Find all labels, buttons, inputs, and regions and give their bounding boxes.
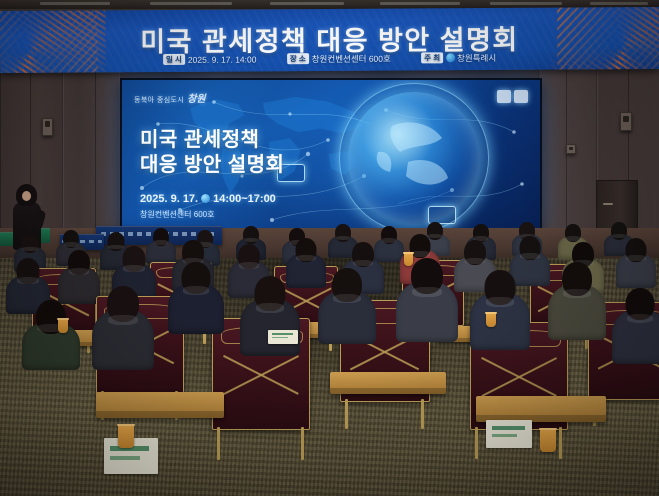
audience-member — [318, 268, 376, 344]
person-collar — [333, 294, 361, 303]
paper-cup — [118, 424, 134, 448]
side-table — [96, 392, 224, 418]
chair-leg — [559, 427, 562, 459]
audience-member — [92, 286, 154, 370]
audience-member — [470, 270, 530, 350]
audience-member — [616, 238, 656, 288]
person-collar — [353, 260, 373, 266]
person-collar — [486, 297, 515, 307]
chair-leg — [475, 427, 478, 459]
paper-cup — [58, 318, 68, 333]
person-collar — [17, 277, 38, 284]
audience-member — [396, 258, 458, 342]
person-collar — [627, 314, 654, 323]
person-collar — [296, 255, 315, 261]
side-table — [330, 372, 446, 394]
person-collar — [566, 236, 580, 240]
person-collar — [154, 240, 168, 244]
person-collar — [465, 258, 485, 264]
person-collar — [183, 286, 210, 295]
audience-member — [548, 262, 606, 340]
person-collar — [244, 238, 258, 242]
person-collar — [64, 242, 78, 246]
handout-document — [486, 420, 532, 448]
person-collar — [256, 303, 285, 313]
person-collar — [612, 234, 626, 238]
person-collar — [69, 268, 89, 274]
screenshot-root: 미국 관세정책 대응 방안 설명회 일 시2025. 9. 17. 14:00 … — [0, 0, 659, 496]
person-collar — [108, 315, 138, 325]
chair-leg — [301, 427, 304, 460]
person-collar — [626, 255, 645, 261]
person-collar — [563, 289, 591, 298]
chair-leg — [421, 399, 424, 429]
side-table — [476, 396, 606, 422]
chair-leg — [345, 399, 348, 429]
person-collar — [123, 265, 144, 272]
audience-member — [22, 300, 80, 370]
audience-member — [240, 276, 300, 356]
person-collar — [520, 253, 539, 259]
person-collar — [412, 287, 442, 297]
chair-leg — [217, 427, 220, 460]
paper-cup — [486, 312, 496, 327]
audience-member — [612, 288, 659, 364]
audience-area — [0, 0, 659, 496]
audience-member — [168, 262, 224, 334]
paper-cup — [404, 252, 413, 266]
handout-document — [268, 330, 298, 344]
person-collar — [336, 236, 350, 240]
person-collar — [239, 262, 259, 268]
paper-cup — [540, 428, 556, 452]
